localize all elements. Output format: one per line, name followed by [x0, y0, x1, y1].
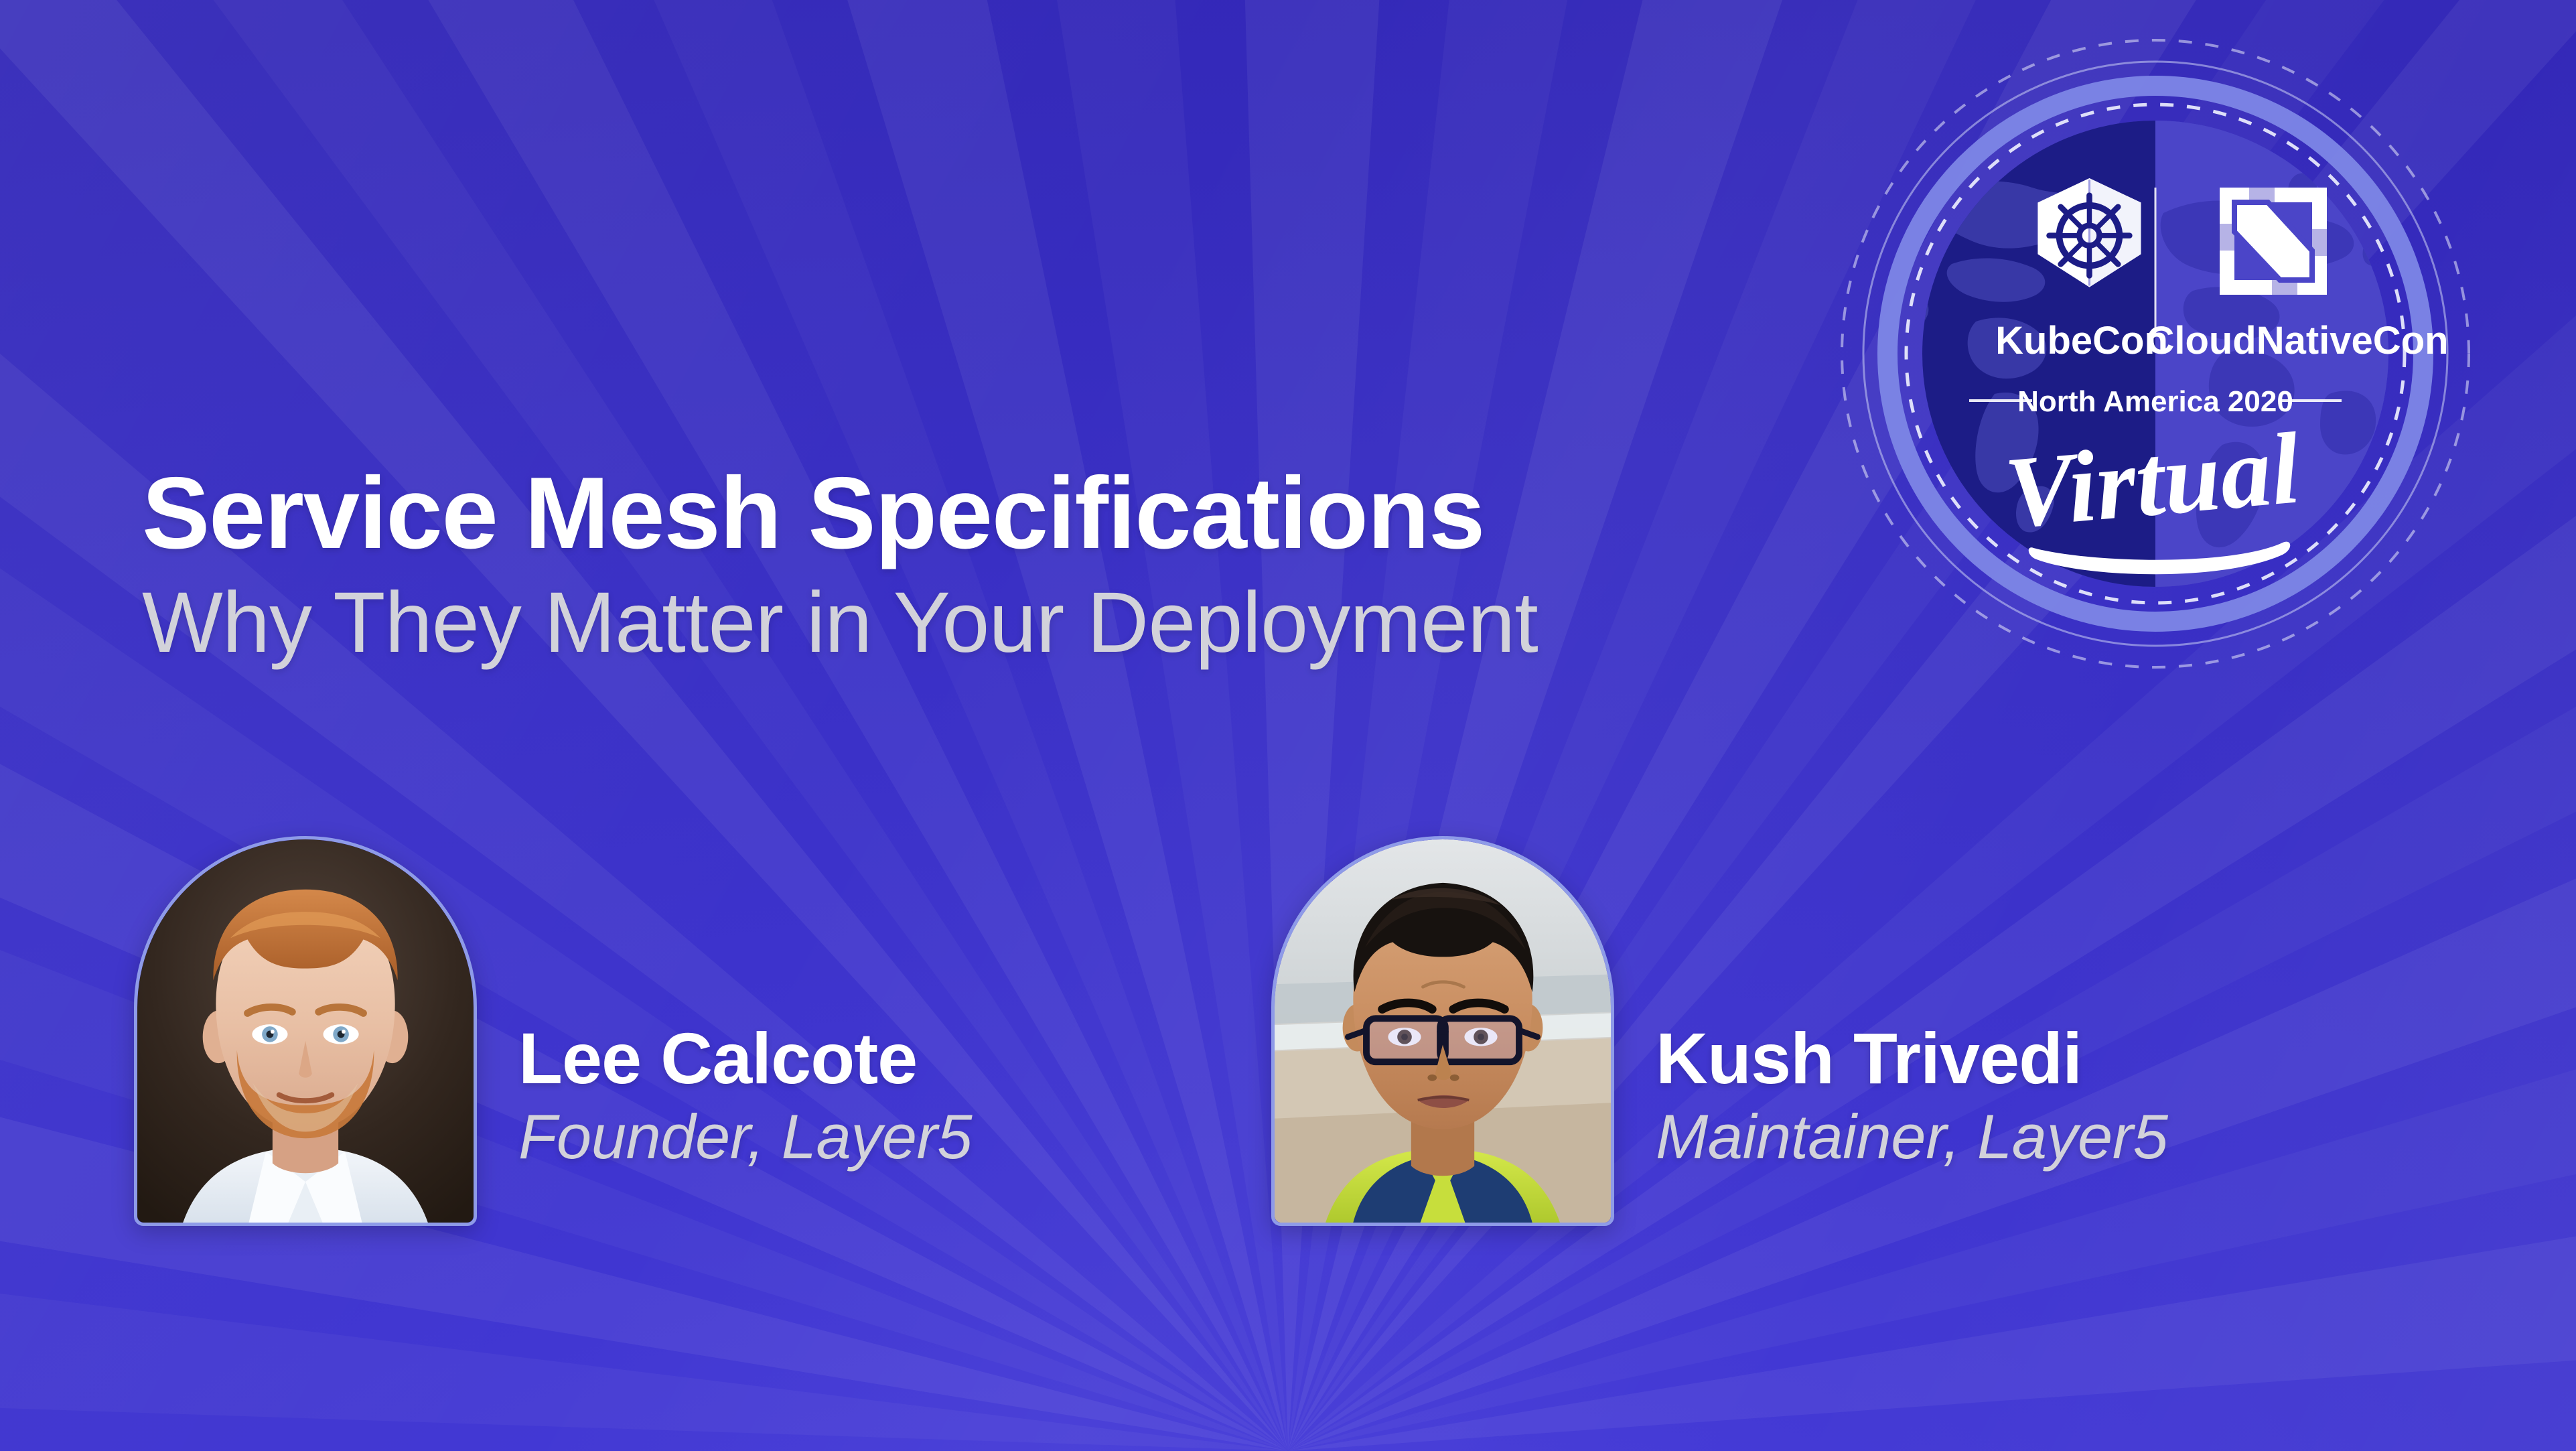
speaker-text: Lee Calcote Founder, Layer5: [518, 1022, 972, 1226]
speaker-name: Kush Trivedi: [1656, 1022, 2167, 1095]
avatar: [1275, 839, 1611, 1223]
avatar: [137, 839, 474, 1223]
edition-label: North America 2020: [2017, 385, 2293, 418]
page-subtitle: Why They Matter in Your Deployment: [142, 580, 1538, 666]
speaker-role: Founder, Layer5: [518, 1105, 972, 1168]
cloudnativecon-square-icon: [2220, 188, 2327, 295]
kubecon-cloudnativecon-badge: KubeCon CloudNativeCon North America 202…: [1820, 19, 2490, 736]
avatar-frame: [1271, 836, 1614, 1226]
speaker-role: Maintainer, Layer5: [1656, 1105, 2167, 1168]
speaker-name: Lee Calcote: [518, 1022, 972, 1095]
page-title: Service Mesh Specifications: [142, 462, 1538, 564]
brand-right-label: CloudNativeCon: [2146, 319, 2448, 362]
title-block: Service Mesh Specifications Why They Mat…: [142, 462, 1538, 666]
avatar-frame: [134, 836, 477, 1226]
presentation-slide: Service Mesh Specifications Why They Mat…: [0, 0, 2576, 1451]
speaker-text: Kush Trivedi Maintainer, Layer5: [1656, 1022, 2167, 1226]
speaker-card-lee-calcote: Lee Calcote Founder, Layer5: [134, 836, 972, 1226]
speaker-card-kush-trivedi: Kush Trivedi Maintainer, Layer5: [1271, 836, 2167, 1226]
brand-left-label: KubeCon: [1995, 319, 2168, 362]
